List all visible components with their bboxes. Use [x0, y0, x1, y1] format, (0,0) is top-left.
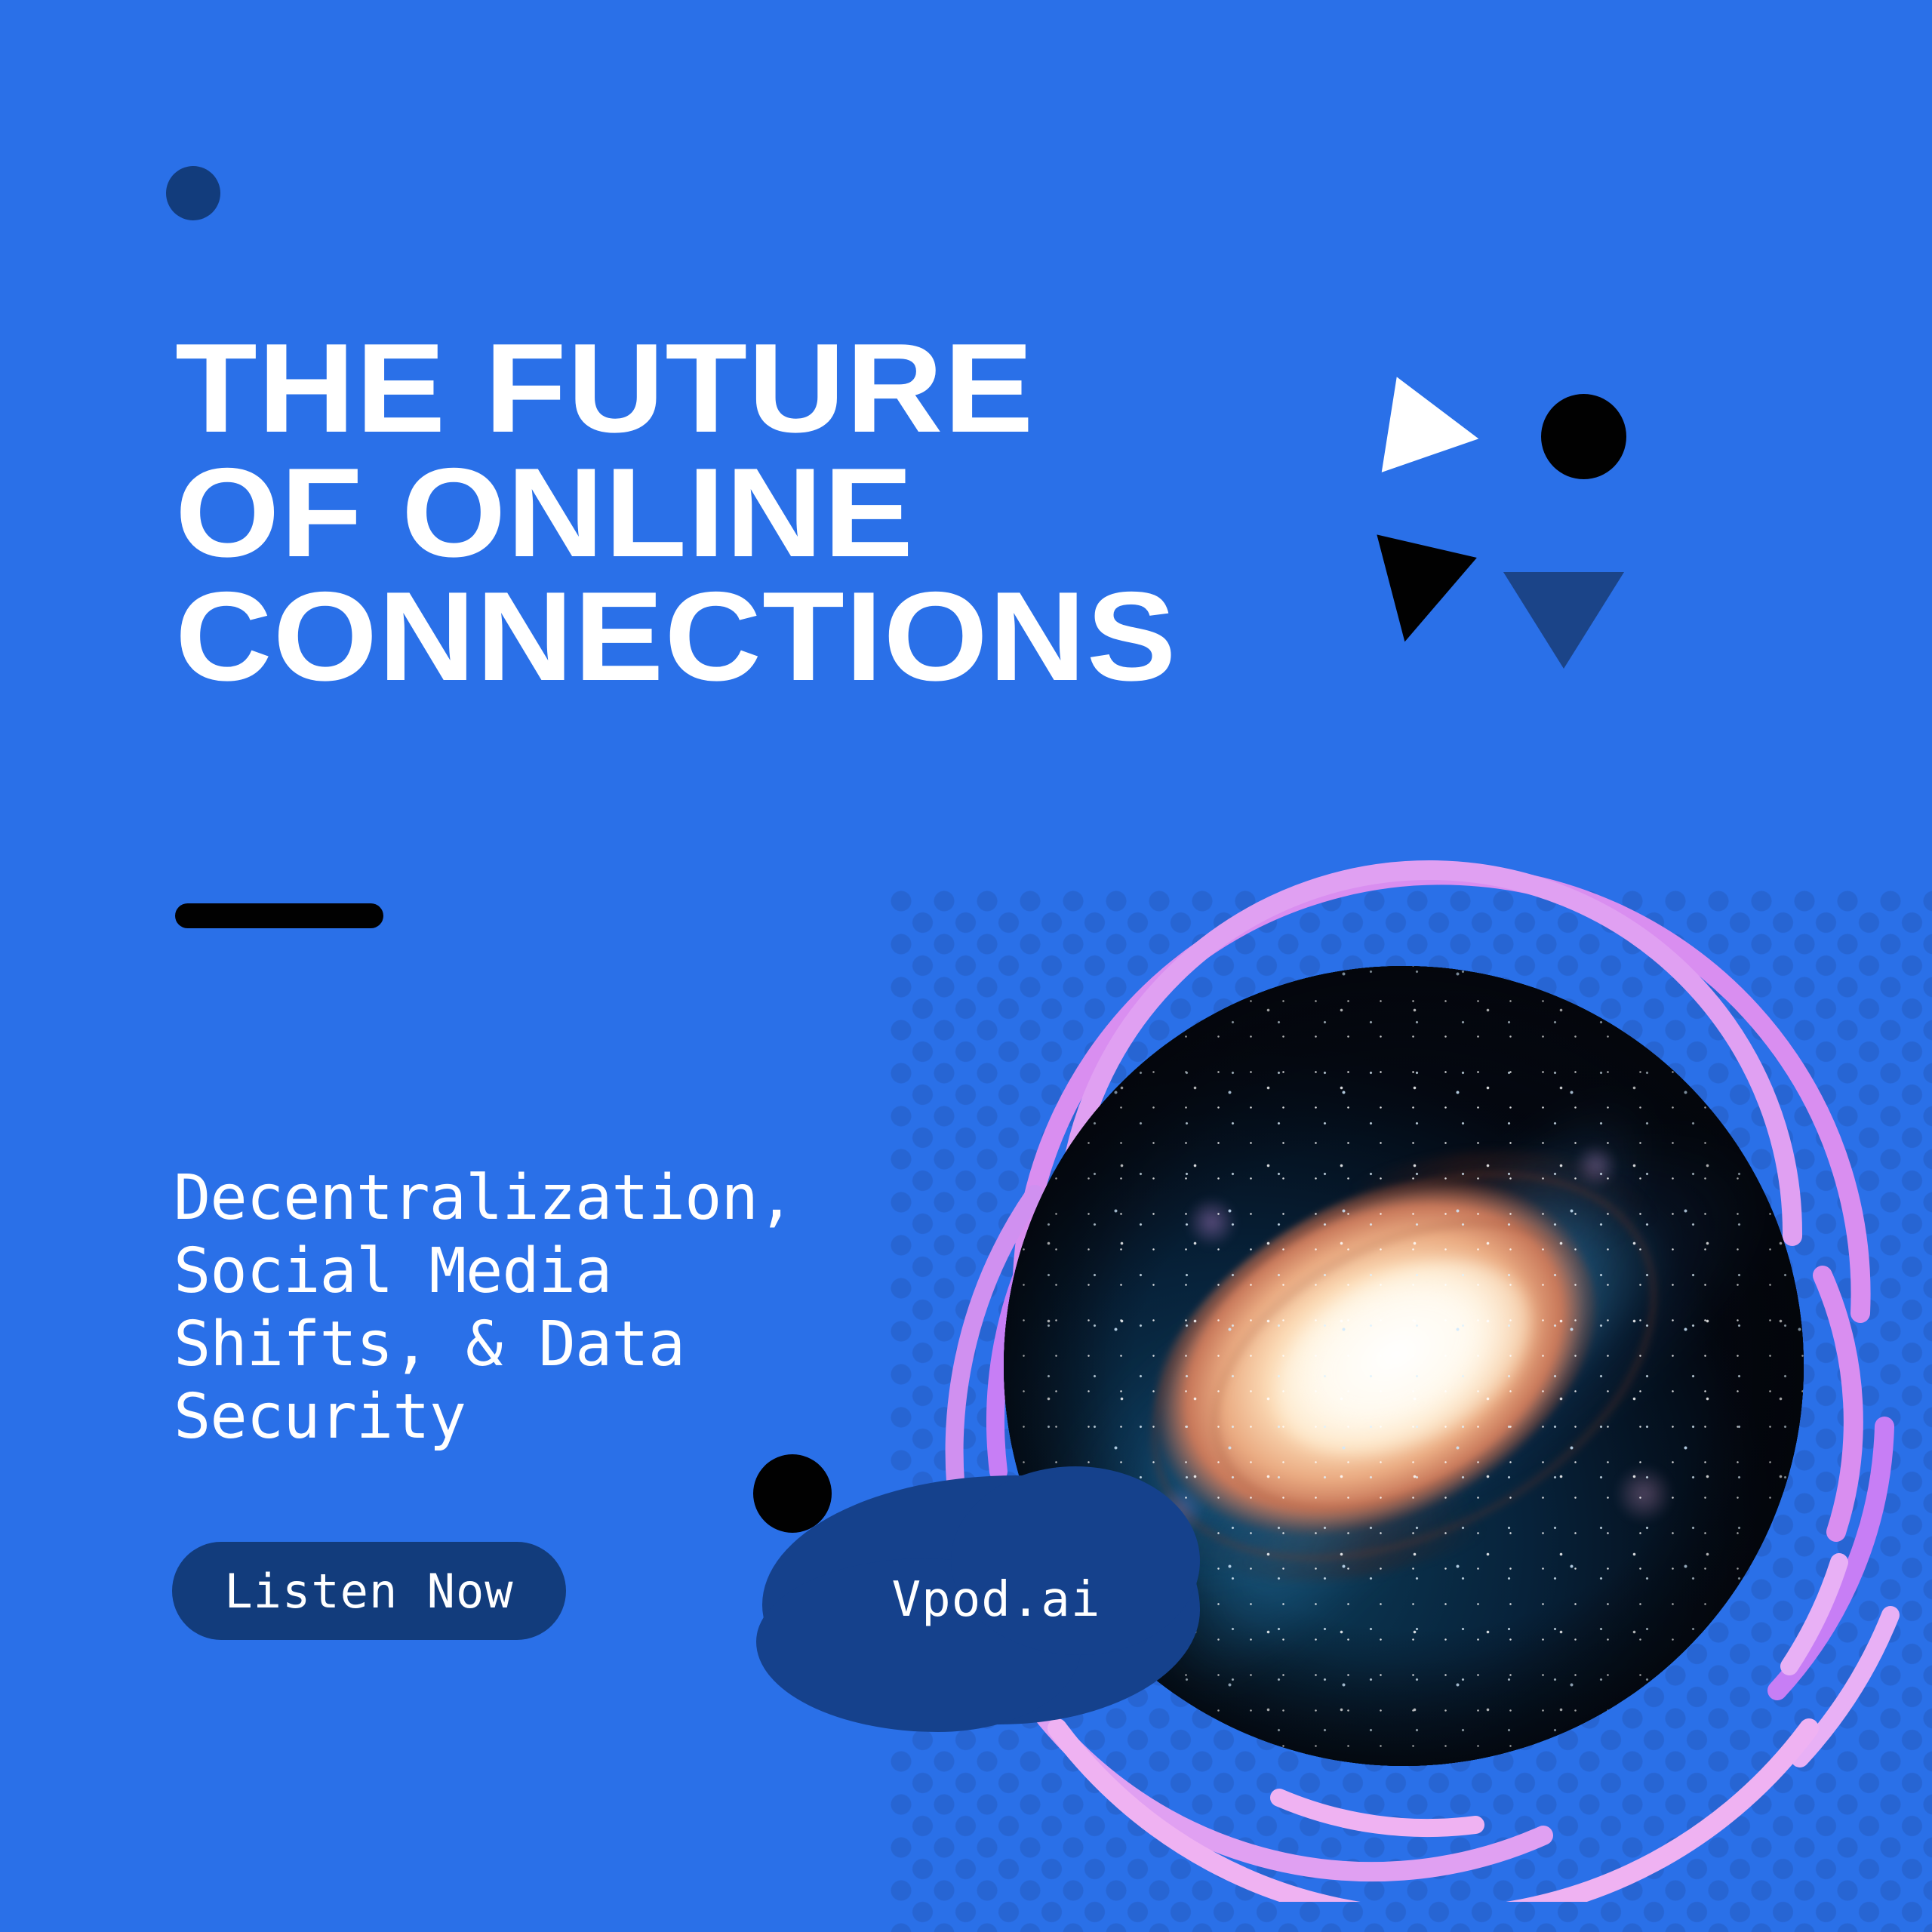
navy-dot-decoration	[166, 166, 220, 220]
listen-now-button[interactable]: Listen Now	[172, 1542, 566, 1640]
page-title: THE FUTURE OF ONLINE CONNECTIONS	[175, 326, 1375, 699]
brand-badge[interactable]: Vpod.ai	[762, 1475, 1200, 1724]
black-rule-divider	[175, 903, 383, 928]
galaxy-graphic	[887, 853, 1932, 1902]
black-circle-icon	[1541, 394, 1626, 479]
poster-canvas: THE FUTURE OF ONLINE CONNECTIONS	[0, 0, 1932, 1932]
subtitle-text: Decentralization, Social Media Shifts, &…	[174, 1162, 1041, 1454]
brand-label: Vpod.ai	[762, 1475, 1200, 1724]
white-play-triangle-icon	[1382, 377, 1487, 486]
navy-triangle-icon	[1503, 572, 1624, 669]
